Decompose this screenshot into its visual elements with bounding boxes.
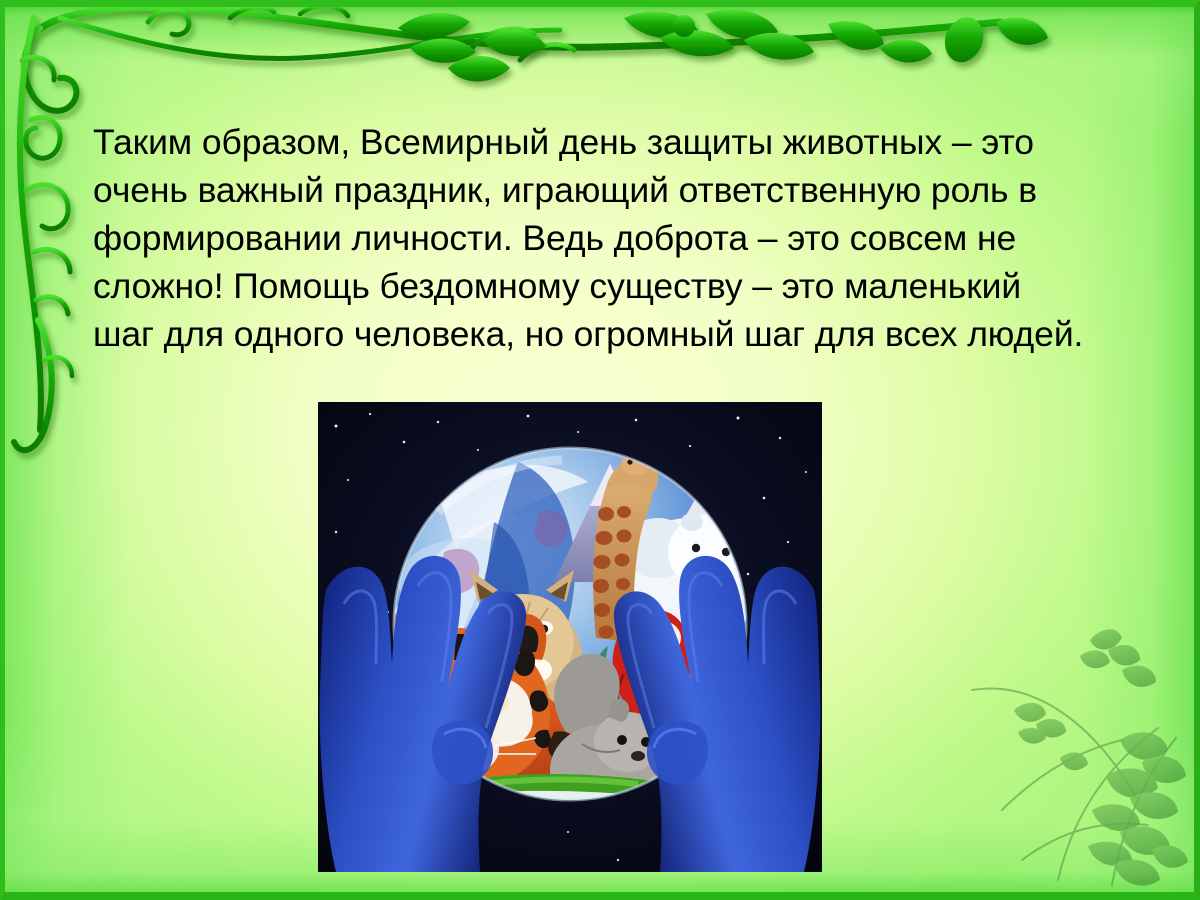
presentation-slide: Таким образом, Всемирный день защиты жив… (0, 0, 1200, 900)
earth-globe-with-animals-image (318, 402, 822, 872)
slide-body-text: Таким образом, Всемирный день защиты жив… (93, 118, 1088, 358)
globe-animals-illustration (318, 402, 822, 872)
